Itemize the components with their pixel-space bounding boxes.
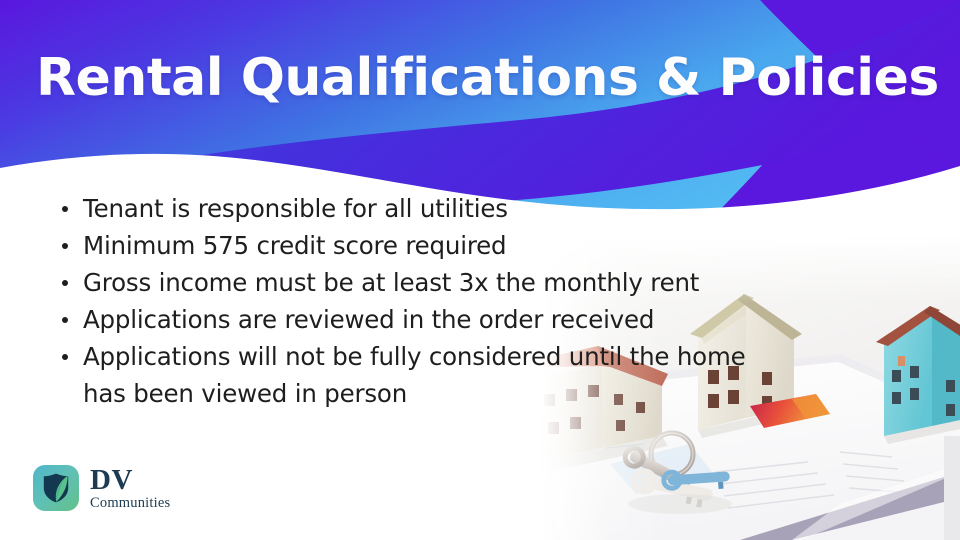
brand-logo: DV Communities [33, 465, 170, 511]
page-title: Rental Qualifications & Policies [36, 48, 916, 108]
shield-leaf-icon [33, 465, 79, 511]
list-item: Tenant is responsible for all utilities [56, 190, 886, 227]
list-item: Minimum 575 credit score required [56, 227, 886, 264]
logo-wordmark: DV Communities [90, 466, 170, 511]
logo-subtitle: Communities [90, 496, 170, 511]
list-item-line-2: has been viewed in person [83, 375, 887, 412]
list-item-line-1: Applications will not be fully considere… [83, 338, 887, 375]
logo-name: DV [90, 466, 170, 495]
policy-bullet-list: Tenant is responsible for all utilities … [56, 190, 886, 412]
list-item: Gross income must be at least 3x the mon… [56, 264, 886, 301]
list-item: Applications are reviewed in the order r… [56, 301, 886, 338]
slide-canvas: Rental Qualifications & Policies [0, 0, 960, 540]
list-item: Applications will not be fully considere… [56, 338, 887, 412]
